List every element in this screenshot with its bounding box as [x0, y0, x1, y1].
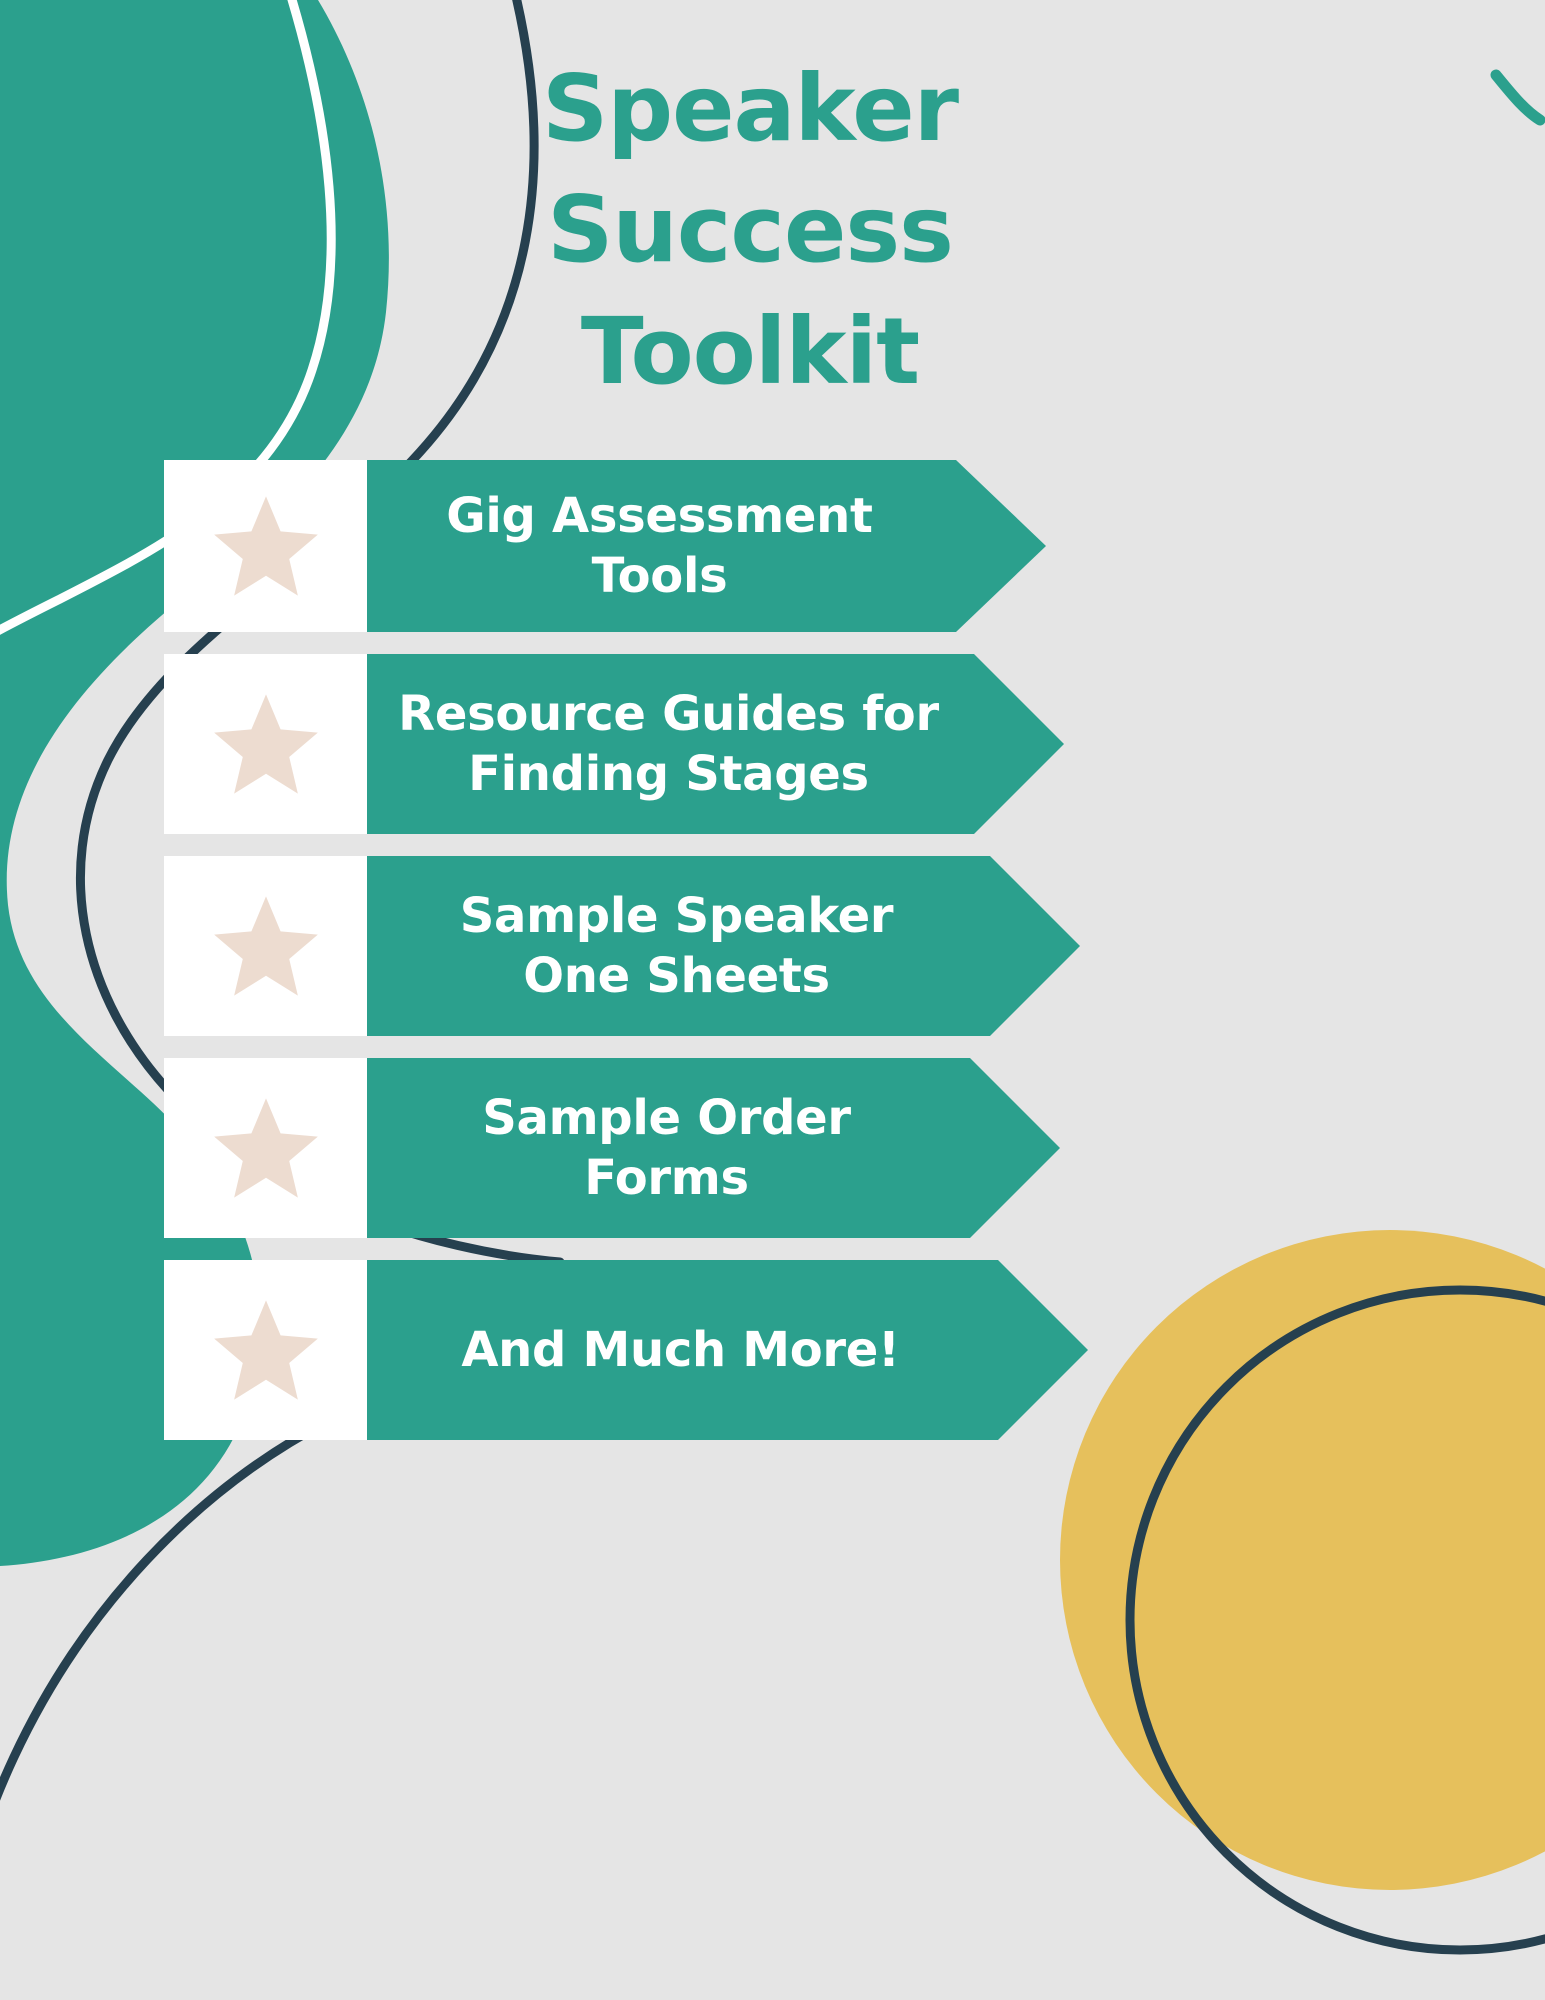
list-item-label: Gig Assessment Tools: [393, 486, 926, 606]
toolkit-item-list: Gig Assessment Tools Resource Guides for…: [164, 460, 1164, 1462]
star-badge: [164, 856, 367, 1036]
item-banner[interactable]: Gig Assessment Tools: [367, 460, 1046, 632]
list-item-label: Resource Guides for Finding Stages: [398, 684, 939, 804]
star-icon: [212, 492, 320, 600]
star-icon: [212, 690, 320, 798]
item-banner[interactable]: Sample Order Forms: [367, 1058, 1060, 1238]
list-item[interactable]: Gig Assessment Tools: [164, 460, 1164, 632]
list-item-label: Sample Order Forms: [393, 1088, 940, 1208]
star-icon: [212, 1296, 320, 1404]
star-badge: [164, 1260, 367, 1440]
item-banner[interactable]: And Much More!: [367, 1260, 1088, 1440]
page-title: Speaker Success Toolkit: [440, 48, 1060, 412]
item-banner[interactable]: Resource Guides for Finding Stages: [367, 654, 1064, 834]
star-icon: [212, 1094, 320, 1202]
list-item[interactable]: Sample Speaker One Sheets: [164, 856, 1164, 1036]
poster-canvas: Speaker Success Toolkit Gig Assessment T…: [0, 0, 1545, 2000]
star-icon: [212, 892, 320, 1000]
star-badge: [164, 1058, 367, 1238]
list-item-label: Sample Speaker One Sheets: [460, 886, 894, 1006]
list-item[interactable]: Resource Guides for Finding Stages: [164, 654, 1164, 834]
title-line-2: Success: [440, 169, 1060, 290]
list-item-label: And Much More!: [461, 1320, 899, 1380]
list-item[interactable]: Sample Order Forms: [164, 1058, 1164, 1238]
title-line-1: Speaker: [440, 48, 1060, 169]
item-banner[interactable]: Sample Speaker One Sheets: [367, 856, 1080, 1036]
star-badge: [164, 654, 367, 834]
title-line-3: Toolkit: [440, 291, 1060, 412]
list-item[interactable]: And Much More!: [164, 1260, 1164, 1440]
star-badge: [164, 460, 367, 632]
